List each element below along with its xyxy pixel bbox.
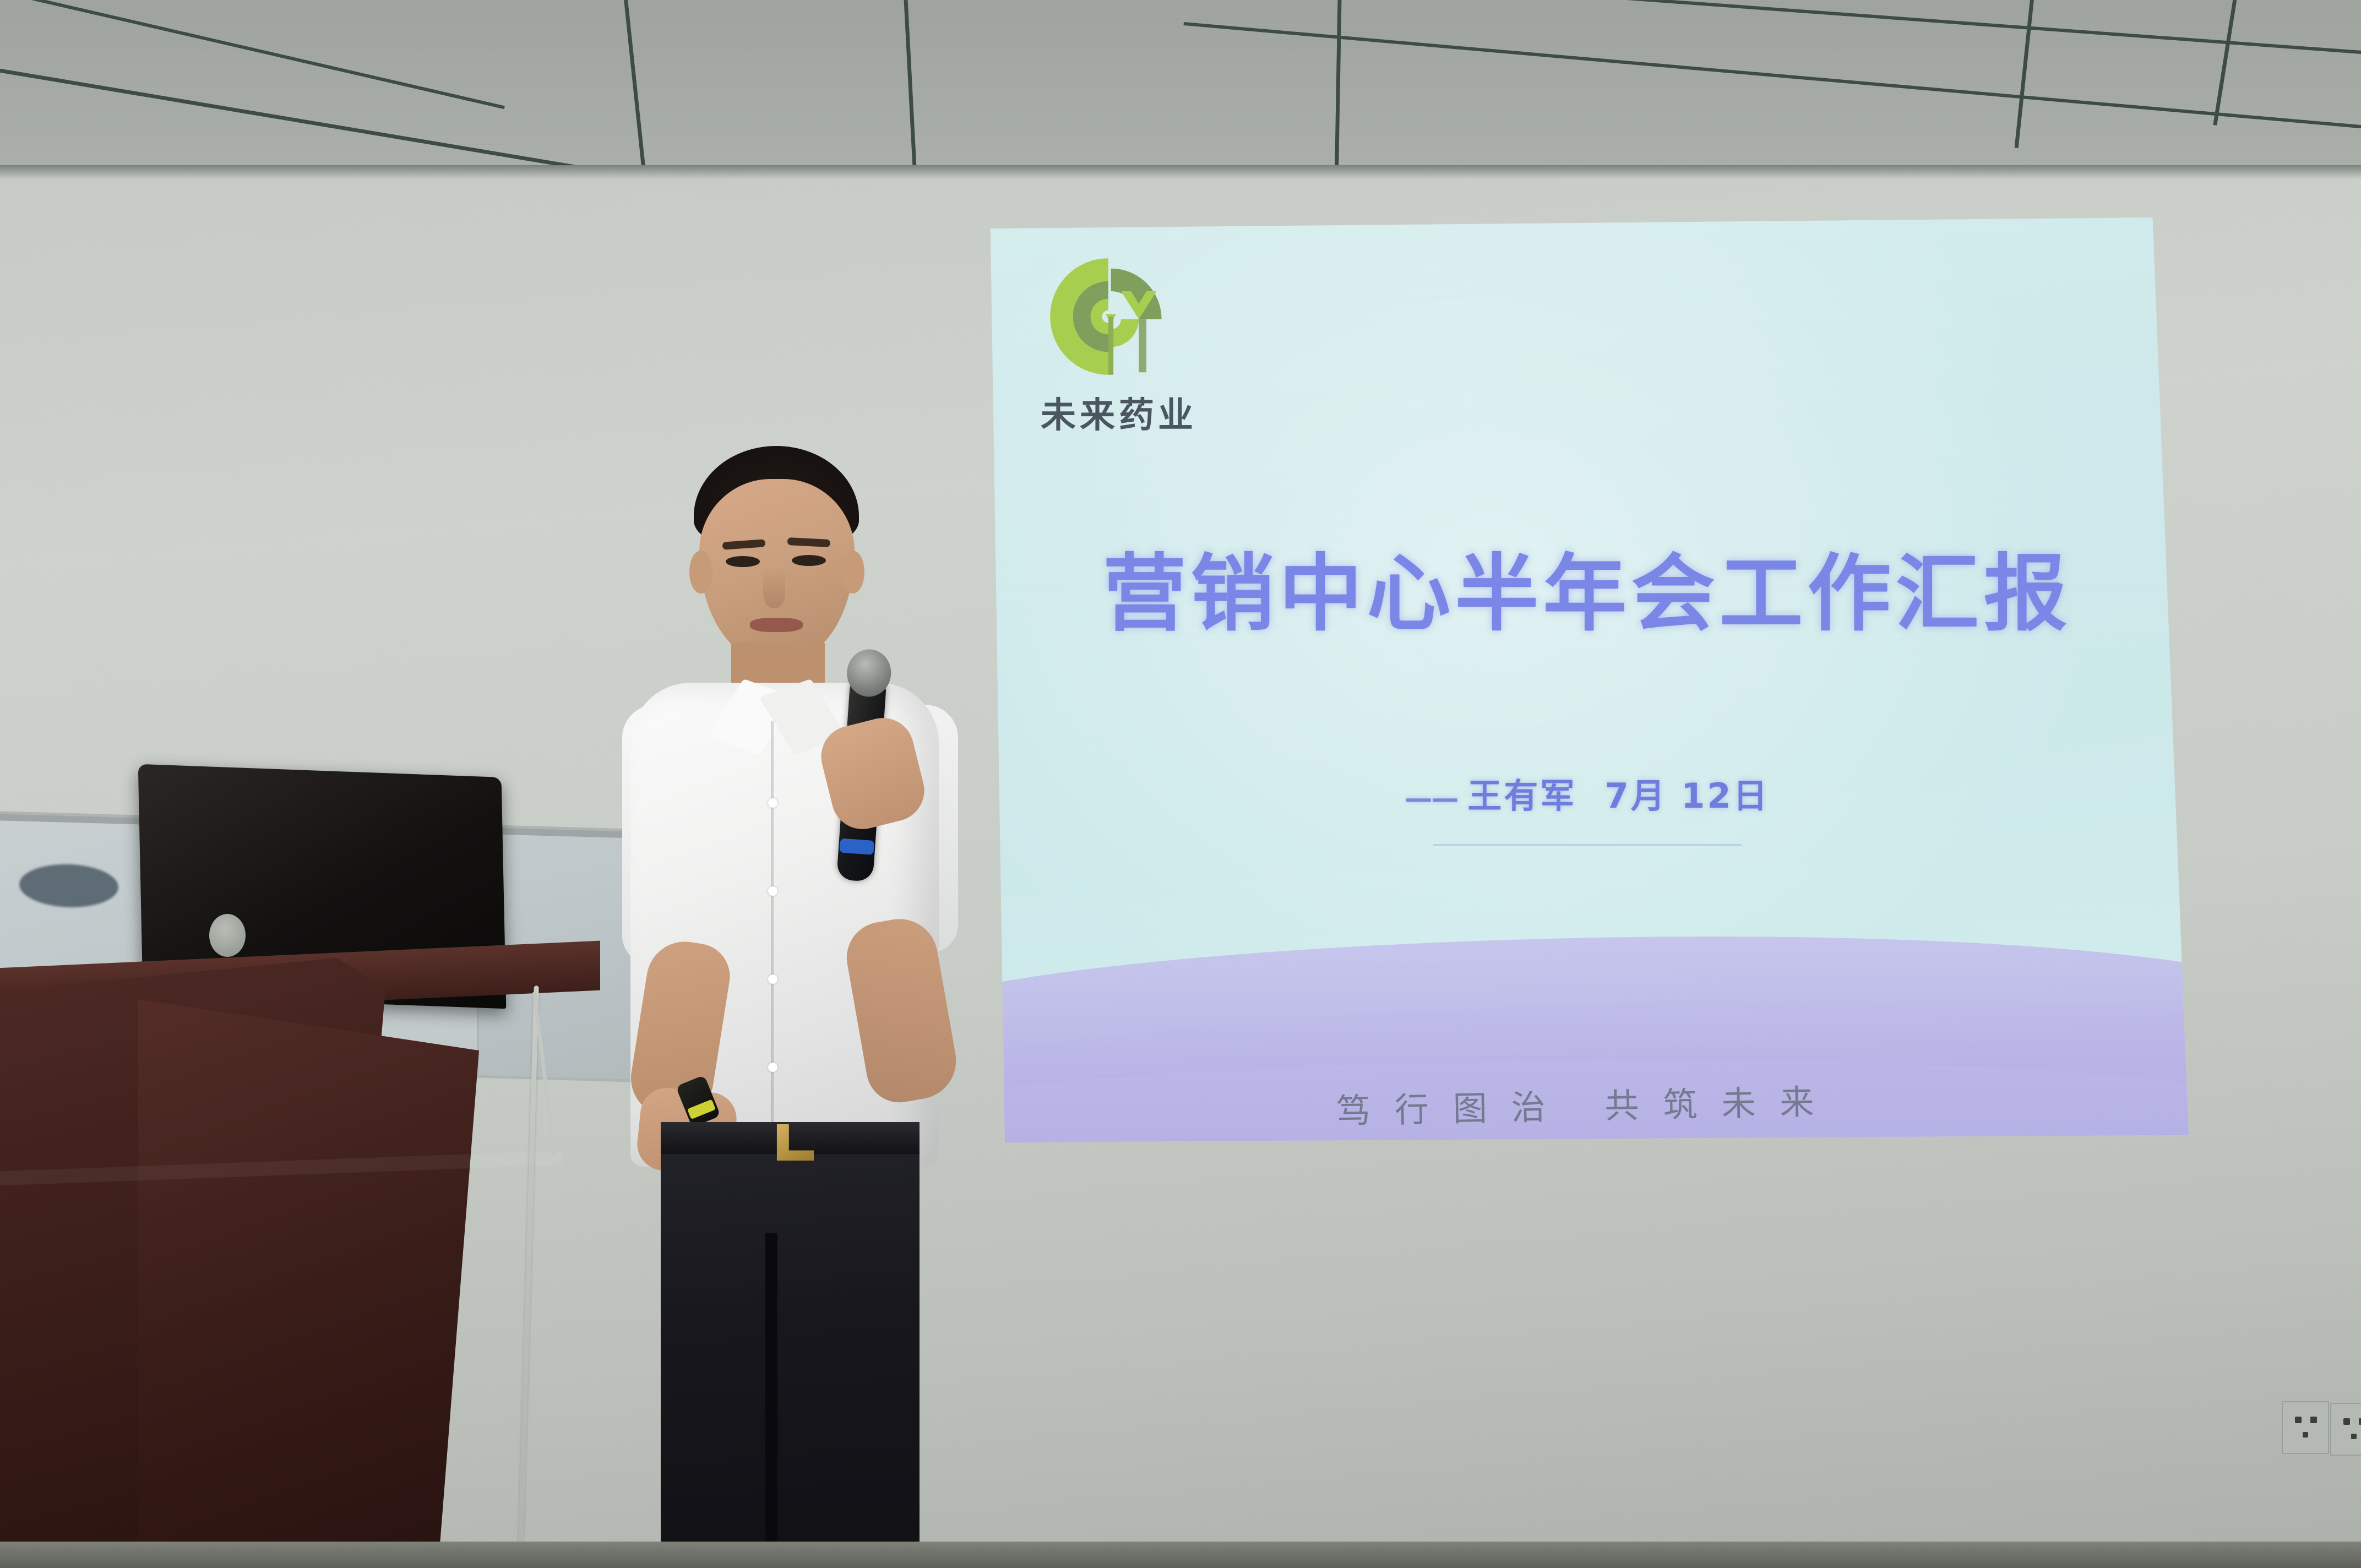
ear-right	[841, 551, 864, 594]
belt	[661, 1122, 920, 1154]
microphone-head	[845, 648, 893, 698]
trousers	[661, 1123, 920, 1568]
eye-right	[792, 555, 826, 566]
leg-separation	[765, 1233, 777, 1568]
ceiling-wall-joint	[0, 165, 2361, 179]
laptop-logo-badge	[209, 914, 246, 957]
microphone-band	[839, 839, 874, 855]
wall-power-outlet[interactable]	[2282, 1401, 2329, 1454]
projection-screen: 未来药业 营销中心半年会工作汇报 ——王有军 7月 12日 笃行图治 共筑未来	[986, 217, 2189, 1142]
shirt-placket	[771, 721, 774, 1162]
clicker-accent	[687, 1099, 716, 1120]
ear-left	[689, 551, 712, 594]
shirt-button	[768, 798, 777, 808]
mouth	[750, 618, 803, 632]
floor	[0, 1542, 2361, 1568]
nose	[763, 568, 785, 608]
shirt-button	[768, 1063, 777, 1072]
eye-left	[726, 556, 760, 567]
shirt-button	[768, 886, 777, 896]
lectern-front-panel	[138, 999, 479, 1568]
shirt-button	[768, 974, 777, 984]
photo-scene: 未来药业 营销中心半年会工作汇报 ——王有军 7月 12日 笃行图治 共筑未来	[0, 0, 2361, 1568]
presenter	[606, 446, 1145, 1568]
wall-power-outlet[interactable]	[2330, 1403, 2361, 1456]
